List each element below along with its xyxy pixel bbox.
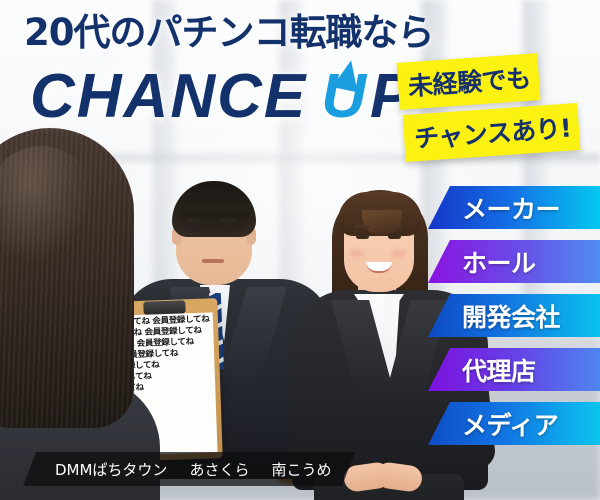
man-eyebrow-left xyxy=(186,219,202,222)
ribbon-item-hall[interactable]: ホール xyxy=(428,240,600,283)
ribbon-item-agency[interactable]: 代理店 xyxy=(428,348,600,391)
woman-blush-right xyxy=(392,250,406,257)
woman-eyebrow-right xyxy=(386,225,402,228)
man-eye-left xyxy=(188,227,201,231)
advertisement-banner: 登録してね 会員登録してね 録してね 会員登録してね してね 会員登録してね ね… xyxy=(0,0,600,500)
ribbon-item-media[interactable]: メディア xyxy=(428,402,600,445)
man-hair xyxy=(172,181,256,237)
person-foreground-back-of-head xyxy=(0,128,134,500)
woman-eye-right xyxy=(388,234,401,239)
page-title: 20代のパチンコ転職なら xyxy=(24,14,434,51)
woman-eyebrow-left xyxy=(354,225,370,228)
credit-person-1: あさくら xyxy=(189,459,249,480)
clipboard-clip xyxy=(143,300,185,314)
promo-badge: 未経験でも チャンスあり! xyxy=(398,58,598,156)
badge-line-1: 未経験でも xyxy=(397,53,540,110)
credit-site-name: DMMぱちタウン xyxy=(55,459,167,480)
woman-eye-left xyxy=(356,234,369,239)
foreground-long-hair xyxy=(0,128,134,428)
logo-word-chance: CHANCE xyxy=(30,66,307,128)
ribbon-label: メディア xyxy=(462,406,558,442)
ribbon-label: ホール xyxy=(462,244,536,280)
man-eye-right xyxy=(222,227,235,231)
ribbon-item-maker[interactable]: メーカー xyxy=(428,186,600,229)
ribbon-label: 開発会社 xyxy=(462,298,560,334)
ribbon-label: 代理店 xyxy=(462,352,536,388)
man-mouth xyxy=(202,259,224,263)
category-ribbon-list: メーカー ホール 開発会社 代理店 メディア xyxy=(428,186,600,445)
logo-letter-u: U xyxy=(321,66,368,128)
credit-person-2: 南こうめ xyxy=(271,459,331,480)
credit-bar: DMMぱちタウン あさくら 南こうめ xyxy=(23,452,355,486)
badge-line-2: チャンスあり! xyxy=(403,103,581,162)
ribbon-item-development-company[interactable]: 開発会社 xyxy=(428,294,600,337)
ribbon-label: メーカー xyxy=(462,190,560,226)
man-eyebrow-right xyxy=(220,219,236,222)
logo-chance-up: CHANCE U P xyxy=(30,66,413,128)
woman-bangs xyxy=(338,192,422,236)
woman-blush-left xyxy=(350,250,364,257)
